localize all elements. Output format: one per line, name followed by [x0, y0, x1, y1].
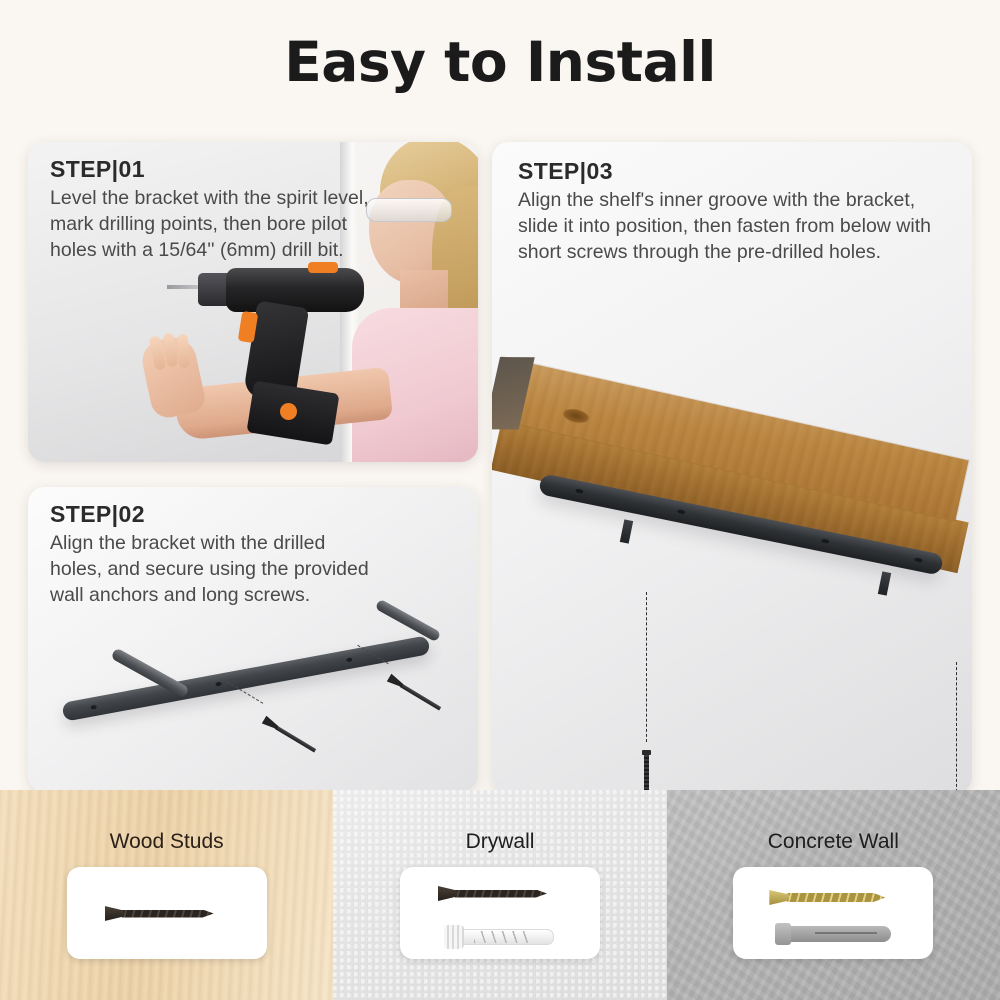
step-02-label: STEP|02 [50, 501, 369, 528]
bracket-mounting-hole [821, 538, 830, 544]
screw-guide-line [956, 662, 957, 792]
anchor-collar [444, 925, 464, 949]
long-screw-icon [262, 716, 320, 756]
wood-screw-icon [438, 885, 562, 902]
hardware-card-drywall [400, 867, 600, 959]
material-concrete-wall: Concrete Wall [667, 790, 1000, 1000]
anchor-collar [775, 923, 791, 945]
material-options-strip: Wood Studs Drywall [0, 790, 1000, 1000]
screw-shank [400, 683, 441, 710]
anchor-slot [815, 932, 877, 934]
bracket-support-rod [375, 599, 442, 643]
bracket-mounting-hole [90, 705, 97, 710]
bracket-mounting-hole [346, 657, 353, 662]
screw-head [642, 750, 651, 755]
screw-shank [275, 725, 316, 752]
screw-shank [122, 910, 214, 918]
plastic-wall-anchor-icon [440, 925, 570, 949]
material-drywall: Drywall [333, 790, 666, 1000]
screw-shank [644, 755, 649, 794]
step-02-text-block: STEP|02 Align the bracket with the drill… [50, 501, 369, 609]
material-wood-studs: Wood Studs [0, 790, 333, 1000]
expansion-anchor-icon [771, 923, 905, 945]
infographic-page: Easy to Install [0, 0, 1000, 1000]
hardware-card-concrete-wall [733, 867, 933, 959]
screw-head [105, 906, 124, 921]
anchor-body [787, 926, 891, 942]
bracket-mounting-hole [575, 488, 584, 494]
anchor-fins [474, 931, 532, 943]
material-label-concrete-wall: Concrete Wall [768, 830, 899, 854]
screw-head [438, 886, 457, 901]
page-title: Easy to Install [0, 30, 1000, 94]
gold-screw-icon [769, 889, 899, 906]
hardware-card-wood-studs [67, 867, 267, 959]
wood-screw-icon [105, 905, 229, 922]
bracket-mounting-hole [914, 557, 923, 563]
step-03-description: Align the shelf's inner groove with the … [518, 188, 931, 266]
bracket-mounting-hole [677, 509, 686, 515]
material-label-drywall: Drywall [466, 830, 535, 854]
screw-shank [787, 893, 885, 902]
step-03-label: STEP|03 [518, 158, 931, 185]
material-label-wood-studs: Wood Studs [110, 830, 224, 854]
bracket-mounting-hole [215, 682, 222, 687]
screw-guide-line [646, 592, 647, 742]
screw-shank [455, 890, 547, 898]
step-03-panel: STEP|03 Align the shelf's inner groove w… [492, 142, 972, 794]
long-screw-icon [387, 674, 445, 714]
bracket-shelf-tab [878, 571, 891, 595]
step-01-description: Level the bracket with the spirit level,… [50, 186, 369, 264]
step-02-panel: STEP|02 Align the bracket with the drill… [28, 487, 478, 792]
step-01-text-block: STEP|01 Level the bracket with the spiri… [50, 156, 369, 264]
bracket-shelf-tab [620, 519, 633, 543]
step-02-description: Align the bracket with the drilled holes… [50, 531, 369, 609]
safety-goggles-icon [366, 198, 452, 222]
step-01-label: STEP|01 [50, 156, 369, 183]
drill-body [226, 268, 364, 312]
screw-head [769, 890, 789, 905]
step-01-panel: STEP|01 Level the bracket with the spiri… [28, 142, 478, 462]
step-03-text-block: STEP|03 Align the shelf's inner groove w… [518, 158, 931, 266]
